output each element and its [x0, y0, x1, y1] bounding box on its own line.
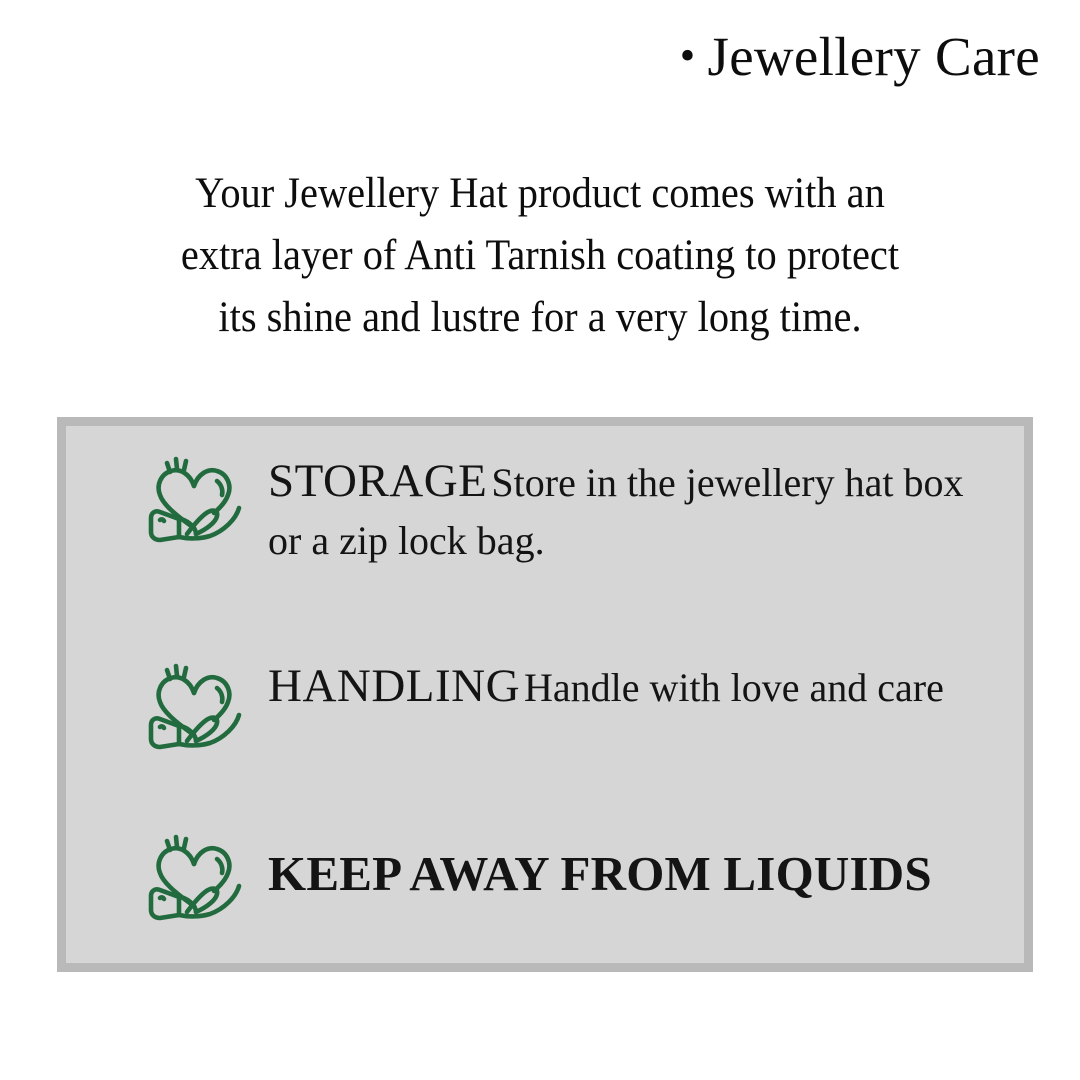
intro-line: Your Jewellery Hat product comes with an — [89, 163, 991, 225]
care-item-heading: HANDLING — [268, 660, 520, 712]
heart-in-hand-icon — [144, 826, 244, 921]
care-item-subtitle: Store in the jewellery hat box — [491, 460, 963, 505]
page-title-text: •Jewellery Care — [680, 28, 1040, 86]
care-item-subtitle: or a zip lock bag. — [268, 518, 545, 563]
care-item-text: STORAGE Store in the jewellery hat box o… — [268, 448, 1024, 570]
care-item-subtitle: Handle with love and care — [524, 665, 944, 710]
page-title: •Jewellery Care — [0, 28, 1040, 86]
page-title-label: Jewellery Care — [707, 26, 1040, 87]
heart-in-hand-icon — [144, 448, 244, 543]
intro-line: its shine and lustre for a very long tim… — [89, 287, 991, 349]
care-item-storage: STORAGE Store in the jewellery hat box o… — [144, 448, 1024, 570]
care-item-heading: KEEP AWAY FROM LIQUIDS — [268, 846, 932, 901]
bullet-icon: • — [680, 33, 696, 79]
care-item-liquids: KEEP AWAY FROM LIQUIDS — [144, 826, 932, 921]
heart-in-hand-icon — [144, 655, 244, 750]
care-item-text: HANDLING Handle with love and care — [268, 653, 944, 717]
care-item-heading: STORAGE — [268, 455, 487, 507]
care-item-text: KEEP AWAY FROM LIQUIDS — [268, 847, 932, 901]
intro-paragraph: Your Jewellery Hat product comes with an… — [89, 163, 991, 349]
care-item-handling: HANDLING Handle with love and care — [144, 653, 944, 750]
intro-line: extra layer of Anti Tarnish coating to p… — [89, 225, 991, 287]
care-instructions-panel: STORAGE Store in the jewellery hat box o… — [57, 417, 1033, 972]
